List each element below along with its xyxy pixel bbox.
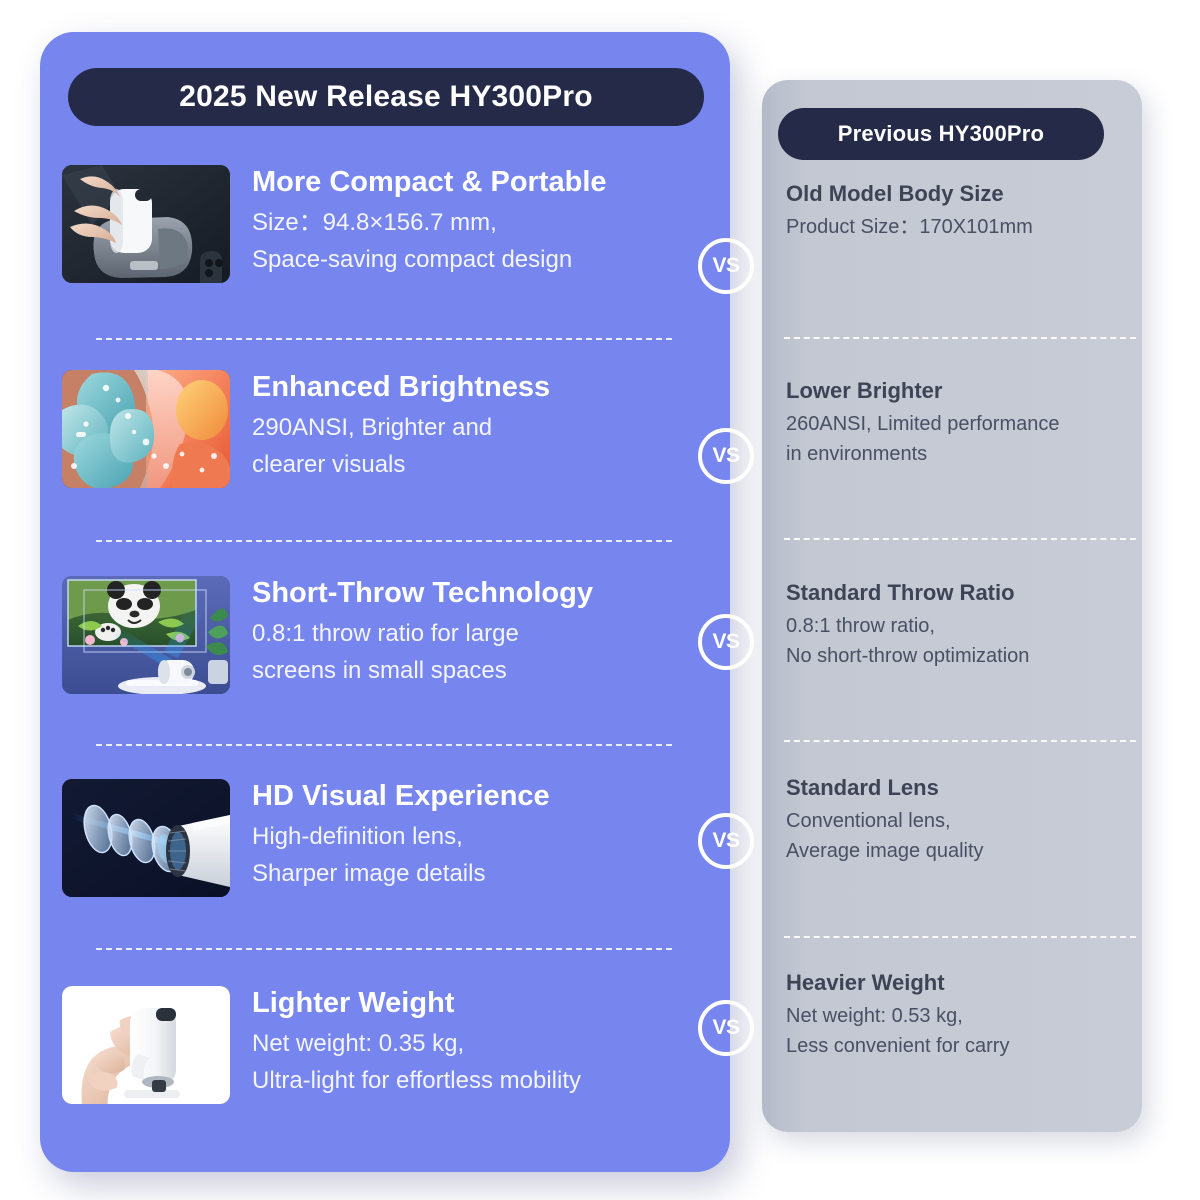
old-panel-divider: [784, 538, 1136, 540]
vs-badge-icon: VS: [698, 813, 754, 869]
new-panel-divider: [96, 948, 672, 950]
old-panel-divider: [784, 337, 1136, 339]
feature-row-old: Heavier WeightNet weight: 0.53 kg,Less c…: [786, 971, 1136, 1061]
feature-row-new: Enhanced Brightness290ANSI, Brighter and…: [62, 370, 702, 488]
feature-title-old: Heavier Weight: [786, 971, 1136, 995]
feature-title-old: Old Model Body Size: [786, 182, 1136, 206]
feature-row-new: More Compact & PortableSize：94.8×156.7 m…: [62, 165, 702, 283]
feature-line-new: Size：94.8×156.7 mm,: [252, 205, 607, 241]
feature-row-old: Standard Throw Ratio0.8:1 throw ratio,No…: [786, 581, 1136, 671]
feature-line-old: 0.8:1 throw ratio,: [786, 611, 1136, 641]
new-release-title: 2025 New Release HY300Pro: [179, 80, 593, 114]
feature-title-new: HD Visual Experience: [252, 781, 550, 812]
feature-line-new: screens in small spaces: [252, 653, 593, 689]
feature-line-old: 260ANSI, Limited performance: [786, 409, 1136, 439]
old-panel-divider: [784, 936, 1136, 938]
old-panel-divider: [784, 740, 1136, 742]
feature-line-old: No short-throw optimization: [786, 641, 1136, 671]
feature-line-old: Conventional lens,: [786, 806, 1136, 836]
feature-line-new: High-definition lens,: [252, 819, 550, 855]
hand-holding-projector-photo: [62, 986, 230, 1104]
feature-line-new: Space-saving compact design: [252, 242, 607, 278]
feature-line-old: Product Size：170X101mm: [786, 212, 1136, 242]
feature-text-new: Lighter WeightNet weight: 0.35 kg,Ultra-…: [252, 986, 581, 1099]
vs-badge-icon: VS: [698, 428, 754, 484]
feature-title-new: Lighter Weight: [252, 988, 581, 1019]
previous-model-title: Previous HY300Pro: [838, 121, 1044, 147]
feature-line-old: Net weight: 0.53 kg,: [786, 1001, 1136, 1031]
feature-line-new: clearer visuals: [252, 447, 550, 483]
feature-title-old: Lower Brighter: [786, 379, 1136, 403]
feature-title-old: Standard Lens: [786, 776, 1136, 800]
feature-line-new: 0.8:1 throw ratio for large: [252, 616, 593, 652]
vs-badge-icon: VS: [698, 614, 754, 670]
new-panel-divider: [96, 744, 672, 746]
new-release-title-pill: 2025 New Release HY300Pro: [68, 68, 704, 126]
feature-row-old: Standard LensConventional lens,Average i…: [786, 776, 1136, 866]
new-panel-divider: [96, 540, 672, 542]
feature-text-new: Enhanced Brightness290ANSI, Brighter and…: [252, 370, 550, 483]
feature-row-new: Short-Throw Technology0.8:1 throw ratio …: [62, 576, 702, 694]
feature-line-old: in environments: [786, 439, 1136, 469]
feature-text-new: More Compact & PortableSize：94.8×156.7 m…: [252, 165, 607, 278]
new-panel-divider: [96, 338, 672, 340]
projector-in-backpack-photo: [62, 165, 230, 283]
feature-line-old: Less convenient for carry: [786, 1031, 1136, 1061]
comparison-infographic: Previous HY300Pro 2025 New Release HY300…: [0, 0, 1200, 1200]
feature-title-new: Enhanced Brightness: [252, 372, 550, 403]
feature-line-old: Average image quality: [786, 836, 1136, 866]
feature-line-new: Sharper image details: [252, 856, 550, 892]
colorful-3d-flowers-photo: [62, 370, 230, 488]
feature-row-old: Lower Brighter260ANSI, Limited performan…: [786, 379, 1136, 469]
exploded-lens-assembly-photo: [62, 779, 230, 897]
feature-title-new: Short-Throw Technology: [252, 578, 593, 609]
feature-line-new: Ultra-light for effortless mobility: [252, 1063, 581, 1099]
feature-text-new: HD Visual ExperienceHigh-definition lens…: [252, 779, 550, 892]
feature-line-new: 290ANSI, Brighter and: [252, 410, 550, 446]
feature-title-new: More Compact & Portable: [252, 167, 607, 198]
vs-badge-icon: VS: [698, 238, 754, 294]
vs-badge-icon: VS: [698, 1000, 754, 1056]
feature-title-old: Standard Throw Ratio: [786, 581, 1136, 605]
previous-model-title-pill: Previous HY300Pro: [778, 108, 1104, 160]
feature-row-old: Old Model Body SizeProduct Size：170X101m…: [786, 182, 1136, 242]
feature-row-new: Lighter WeightNet weight: 0.35 kg,Ultra-…: [62, 986, 702, 1104]
projector-throwing-panda-image-photo: [62, 576, 230, 694]
feature-row-new: HD Visual ExperienceHigh-definition lens…: [62, 779, 702, 897]
feature-text-new: Short-Throw Technology0.8:1 throw ratio …: [252, 576, 593, 689]
feature-line-new: Net weight: 0.35 kg,: [252, 1026, 581, 1062]
